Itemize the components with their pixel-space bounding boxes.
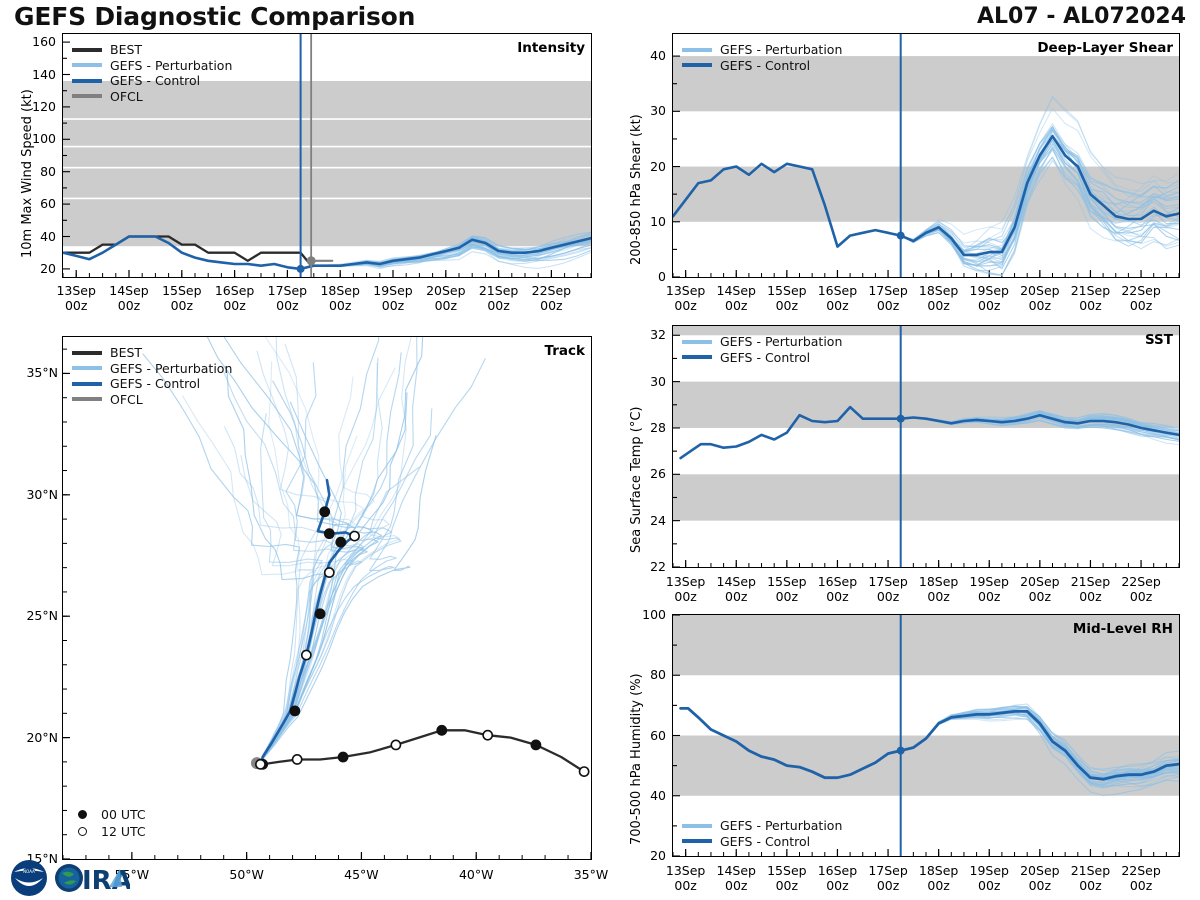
legend-row-control: GEFS - Control [682,58,842,74]
ytick-label: 160 [0,34,56,49]
ytick-label: 35°N [0,365,58,380]
xtick-sublabel: 00z [46,298,106,313]
legend-swatch-best [72,48,102,52]
branding-logos: NOAA IRA [6,858,130,898]
legend-row-best: BEST [72,42,232,58]
ytick-label: 120 [0,99,56,114]
legend-row-perturbation: GEFS - Perturbation [72,361,232,377]
legend-row-ofcl: OFCL [72,89,232,105]
xtick-label: 16Sep [205,283,265,298]
xtick-label: 19Sep [363,283,423,298]
page-title: GEFS Diagnostic Comparison [14,2,415,31]
legend-intensity: BEST GEFS - Perturbation GEFS - Control … [72,42,232,104]
xtick-label: 14Sep [99,283,159,298]
axis-label-shear-y: 200-850 hPa Shear (kt) [629,114,644,265]
legend-label-perturbation: GEFS - Perturbation [720,818,842,834]
marker-legend-track: 00 UTC 12 UTC [68,806,146,840]
ytick-label: 30 [610,103,666,118]
figure-canvas: GEFS Diagnostic Comparison AL07 - AL0720… [0,0,1200,900]
filled-circle-icon [78,810,87,819]
marker-legend-row-00utc: 00 UTC [68,806,146,823]
ytick-label: 60 [0,196,56,211]
legend-sst: GEFS - Perturbation GEFS - Control [682,334,842,365]
legend-label-control: GEFS - Control [720,350,810,366]
xtick-sublabel: 00z [1111,589,1171,604]
legend-label-perturbation: GEFS - Perturbation [110,58,232,74]
xtick-label: 21Sep [469,283,529,298]
xtick-label: 45°W [326,867,396,882]
cira-logo: IRA [52,859,130,897]
ytick-label: 140 [0,67,56,82]
marker-legend-label-12utc: 12 UTC [101,823,146,840]
storm-id-title: AL07 - AL072024 [977,4,1186,29]
panel-title-rh: Mid-Level RH [600,621,1173,637]
xtick-label: 50°W [212,867,282,882]
ytick-label: 28 [610,420,666,435]
noaa-logo: NOAA [6,858,52,898]
ytick-label: 100 [0,131,56,146]
legend-swatch-perturbation [682,48,712,52]
legend-row-perturbation: GEFS - Perturbation [682,42,842,58]
xtick-sublabel: 00z [416,298,476,313]
ytick-label: 10 [610,214,666,229]
xtick-sublabel: 00z [363,298,423,313]
ytick-label: 25°N [0,608,58,623]
legend-row-control: GEFS - Control [682,834,842,850]
xtick-sublabel: 00z [152,298,212,313]
ytick-label: 60 [610,728,666,743]
xtick-label: 13Sep [46,283,106,298]
svg-text:IRA: IRA [82,866,130,896]
legend-swatch-control [682,839,712,843]
legend-row-control: GEFS - Control [72,376,232,392]
legend-label-best: BEST [110,42,142,58]
ytick-label: 32 [610,327,666,342]
legend-swatch-best [72,351,102,355]
track-plot-area [63,337,591,859]
legend-swatch-perturbation [72,366,102,370]
legend-row-perturbation: GEFS - Perturbation [682,334,842,350]
legend-label-ofcl: OFCL [110,392,143,408]
xtick-label: 20Sep [416,283,476,298]
legend-shear: GEFS - Perturbation GEFS - Control [682,42,842,73]
ytick-label: 30 [610,374,666,389]
ytick-label: 40 [0,229,56,244]
open-circle-icon [78,827,87,836]
legend-row-control: GEFS - Control [72,73,232,89]
legend-swatch-control [72,382,102,386]
ytick-label: 40 [610,48,666,63]
legend-swatch-perturbation [682,824,712,828]
xtick-label: 22Sep [1111,863,1171,878]
legend-row-ofcl: OFCL [72,392,232,408]
legend-label-control: GEFS - Control [720,834,810,850]
svg-text:NOAA: NOAA [23,869,35,874]
legend-label-perturbation: GEFS - Perturbation [720,42,842,58]
legend-row-perturbation: GEFS - Perturbation [682,818,842,834]
xtick-label: 17Sep [257,283,317,298]
ytick-label: 24 [610,513,666,528]
ytick-label: 100 [610,607,666,622]
xtick-label: 22Sep [1111,574,1171,589]
legend-row-best: BEST [72,345,232,361]
legend-swatch-control [682,63,712,67]
ytick-label: 40 [610,788,666,803]
legend-swatch-control [72,79,102,83]
ytick-label: 20 [0,261,56,276]
marker-legend-row-12utc: 12 UTC [68,823,146,840]
legend-label-control: GEFS - Control [110,73,200,89]
ytick-label: 20 [610,848,666,863]
marker-legend-label-00utc: 00 UTC [101,806,146,823]
ytick-label: 30°N [0,487,58,502]
ytick-label: 20°N [0,730,58,745]
xtick-label: 22Sep [1111,283,1171,298]
ytick-label: 22 [610,559,666,574]
xtick-sublabel: 00z [1111,298,1171,313]
xtick-sublabel: 00z [1111,878,1171,893]
xtick-label: 35°W [556,867,626,882]
xtick-label: 15Sep [152,283,212,298]
legend-label-control: GEFS - Control [110,376,200,392]
legend-label-control: GEFS - Control [720,58,810,74]
ytick-label: 80 [610,667,666,682]
xtick-sublabel: 00z [205,298,265,313]
xtick-sublabel: 00z [469,298,529,313]
legend-track: BEST GEFS - Perturbation GEFS - Control … [72,345,232,407]
legend-label-perturbation: GEFS - Perturbation [110,361,232,377]
xtick-sublabel: 00z [257,298,317,313]
legend-row-perturbation: GEFS - Perturbation [72,58,232,74]
xtick-sublabel: 00z [521,298,581,313]
ytick-label: 26 [610,466,666,481]
xtick-sublabel: 00z [99,298,159,313]
legend-swatch-perturbation [682,340,712,344]
ytick-label: 20 [610,159,666,174]
xtick-label: 22Sep [521,283,581,298]
panel-track [62,336,592,860]
legend-label-ofcl: OFCL [110,89,143,105]
axis-label-rh-y: 700-500 hPa Humidity (%) [629,673,644,845]
legend-swatch-perturbation [72,63,102,67]
legend-swatch-ofcl [72,94,102,98]
xtick-label: 40°W [441,867,511,882]
xtick-sublabel: 00z [310,298,370,313]
legend-swatch-ofcl [72,397,102,401]
ytick-label: 0 [610,269,666,284]
legend-swatch-control [682,355,712,359]
legend-label-perturbation: GEFS - Perturbation [720,334,842,350]
xtick-label: 18Sep [310,283,370,298]
ytick-label: 80 [0,164,56,179]
legend-row-control: GEFS - Control [682,350,842,366]
legend-rh: GEFS - Perturbation GEFS - Control [682,818,842,849]
legend-label-best: BEST [110,345,142,361]
